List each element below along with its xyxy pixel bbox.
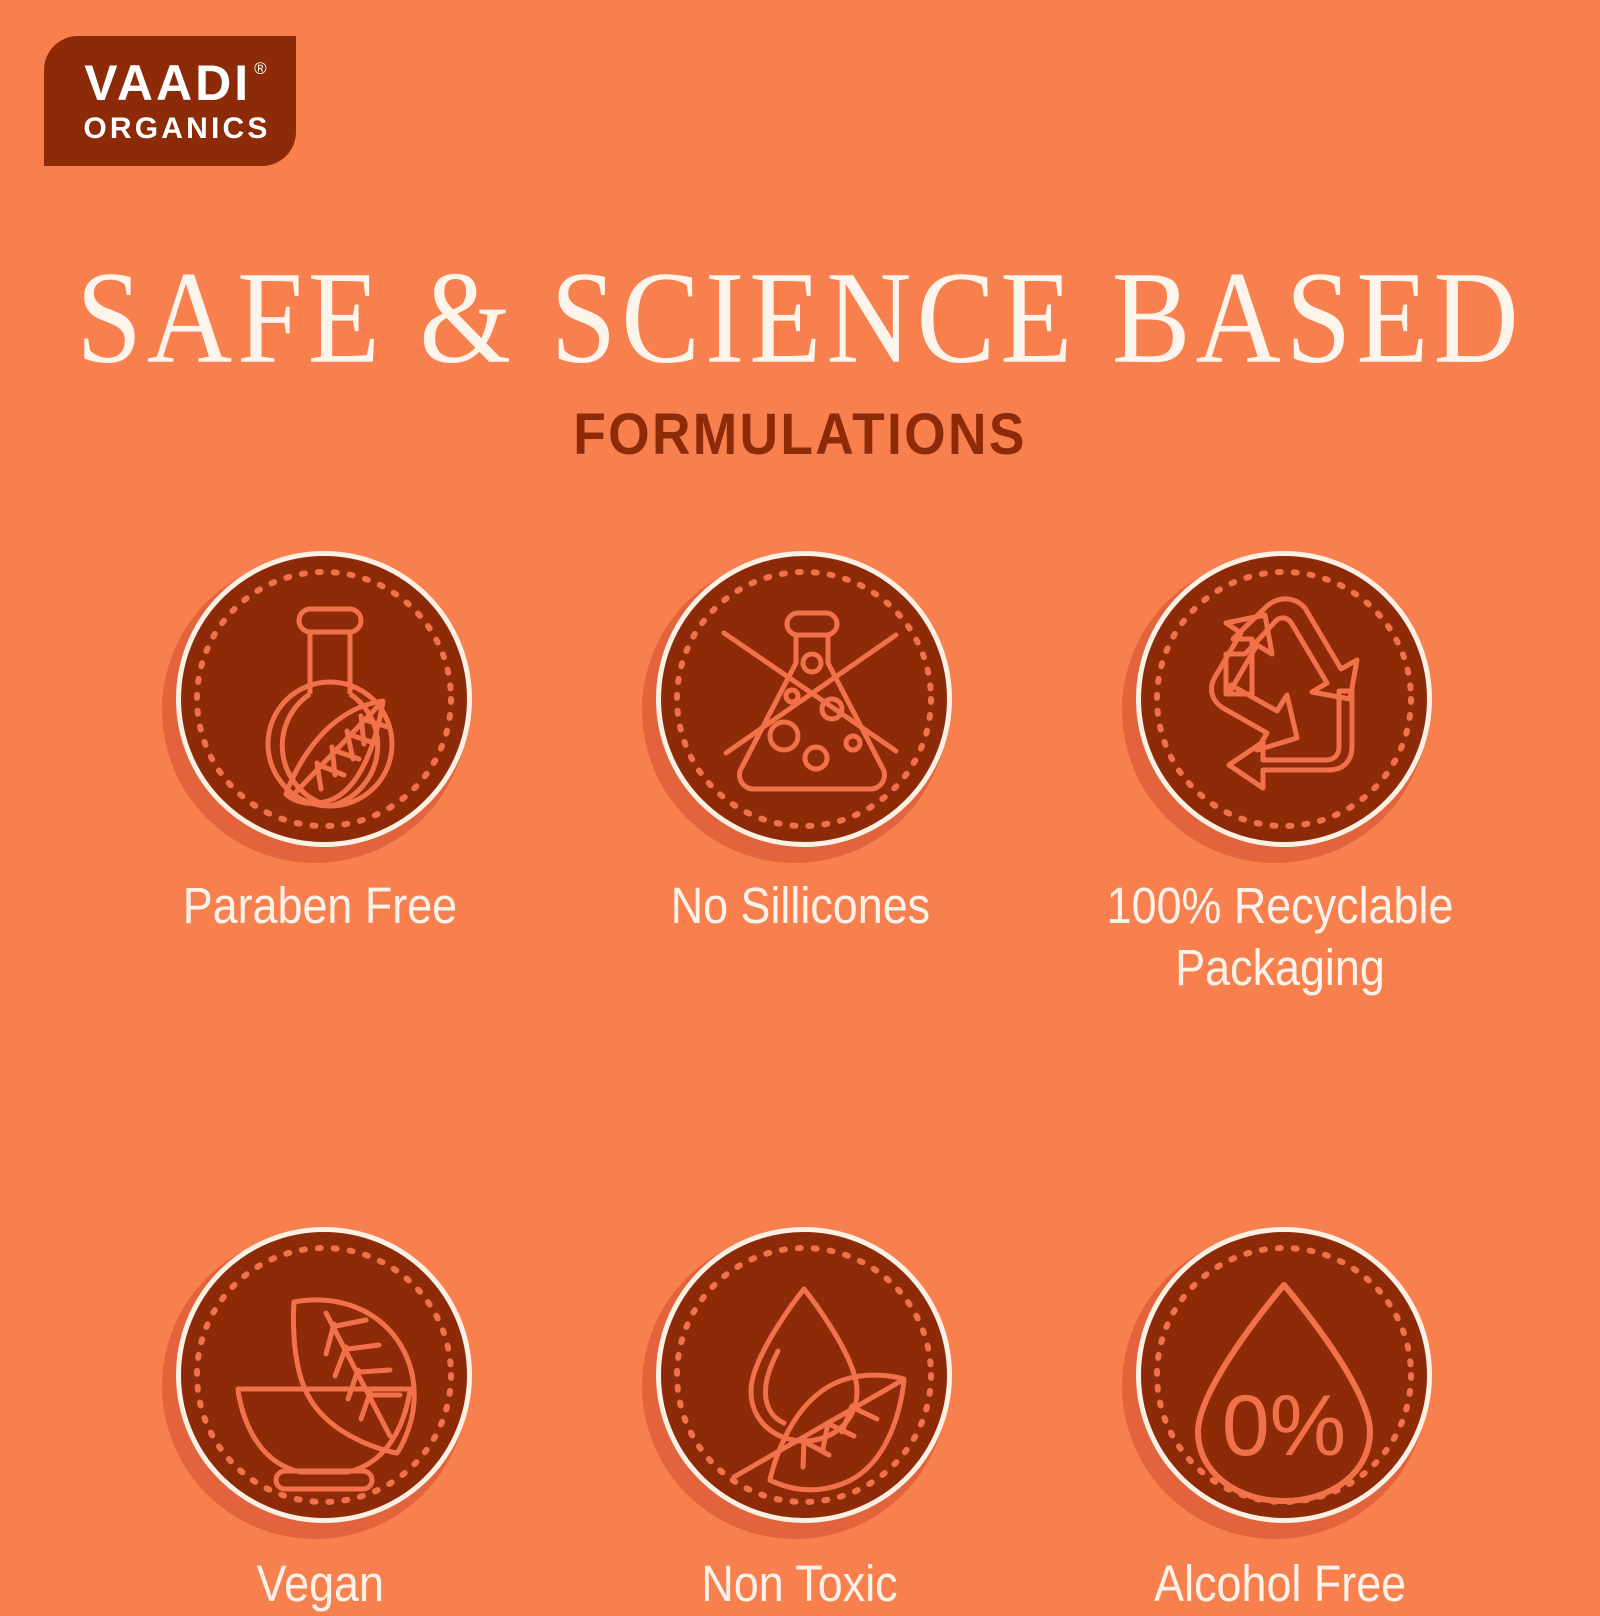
feature-item-recyclable-packaging: 100% Recyclable Packaging bbox=[1040, 535, 1520, 999]
feature-item-vegan: Vegan bbox=[80, 1211, 560, 1615]
brand-name: VAADI bbox=[84, 58, 251, 108]
badge-vegan bbox=[162, 1211, 478, 1527]
droplet-leaf-icon bbox=[656, 1227, 952, 1523]
badge-alcohol-free: 0% bbox=[1122, 1211, 1438, 1527]
feature-item-paraben-free: Paraben Free bbox=[80, 535, 560, 937]
badge-paraben-free bbox=[162, 535, 478, 851]
feature-label: Paraben Free bbox=[183, 875, 457, 937]
feature-item-alcohol-free: 0% Alcohol Free bbox=[1040, 1211, 1520, 1615]
feature-label: Vegan bbox=[256, 1553, 383, 1615]
no-chemicals-icon bbox=[656, 551, 952, 847]
page-subtitle: FORMULATIONS bbox=[64, 406, 1536, 464]
recycle-icon bbox=[1136, 551, 1432, 847]
icon-text-zero-percent: 0% bbox=[1222, 1378, 1346, 1474]
feature-item-no-sillicones: No Sillicones bbox=[560, 535, 1040, 937]
badge-no-sillicones bbox=[642, 535, 958, 851]
brand-tagline: ORGANICS bbox=[83, 114, 270, 144]
feature-row-2: Vegan bbox=[0, 1211, 1600, 1615]
badge-non-toxic bbox=[642, 1211, 958, 1527]
feature-label: Alcohol Free bbox=[1154, 1553, 1406, 1615]
bowl-leaf-icon bbox=[176, 1227, 472, 1523]
page-title: SAFE & SCIENCE BASED bbox=[0, 252, 1600, 384]
feature-row-1: Paraben Free bbox=[0, 535, 1600, 999]
feature-label: Non Toxic bbox=[702, 1553, 898, 1615]
brand-logo: VAADI ® ORGANICS bbox=[44, 36, 296, 166]
feature-label: 100% Recyclable Packaging bbox=[1107, 875, 1454, 999]
feature-label: No Sillicones bbox=[670, 875, 929, 937]
brand-name-row: VAADI ® bbox=[84, 58, 269, 108]
feature-badge-grid: Paraben Free bbox=[0, 535, 1600, 1616]
feature-item-non-toxic: Non Toxic bbox=[560, 1211, 1040, 1615]
droplet-zero-percent-icon: 0% bbox=[1136, 1227, 1432, 1523]
badge-recyclable-packaging bbox=[1122, 535, 1438, 851]
registered-trademark-icon: ® bbox=[254, 60, 270, 77]
flask-leaf-icon bbox=[176, 551, 472, 847]
